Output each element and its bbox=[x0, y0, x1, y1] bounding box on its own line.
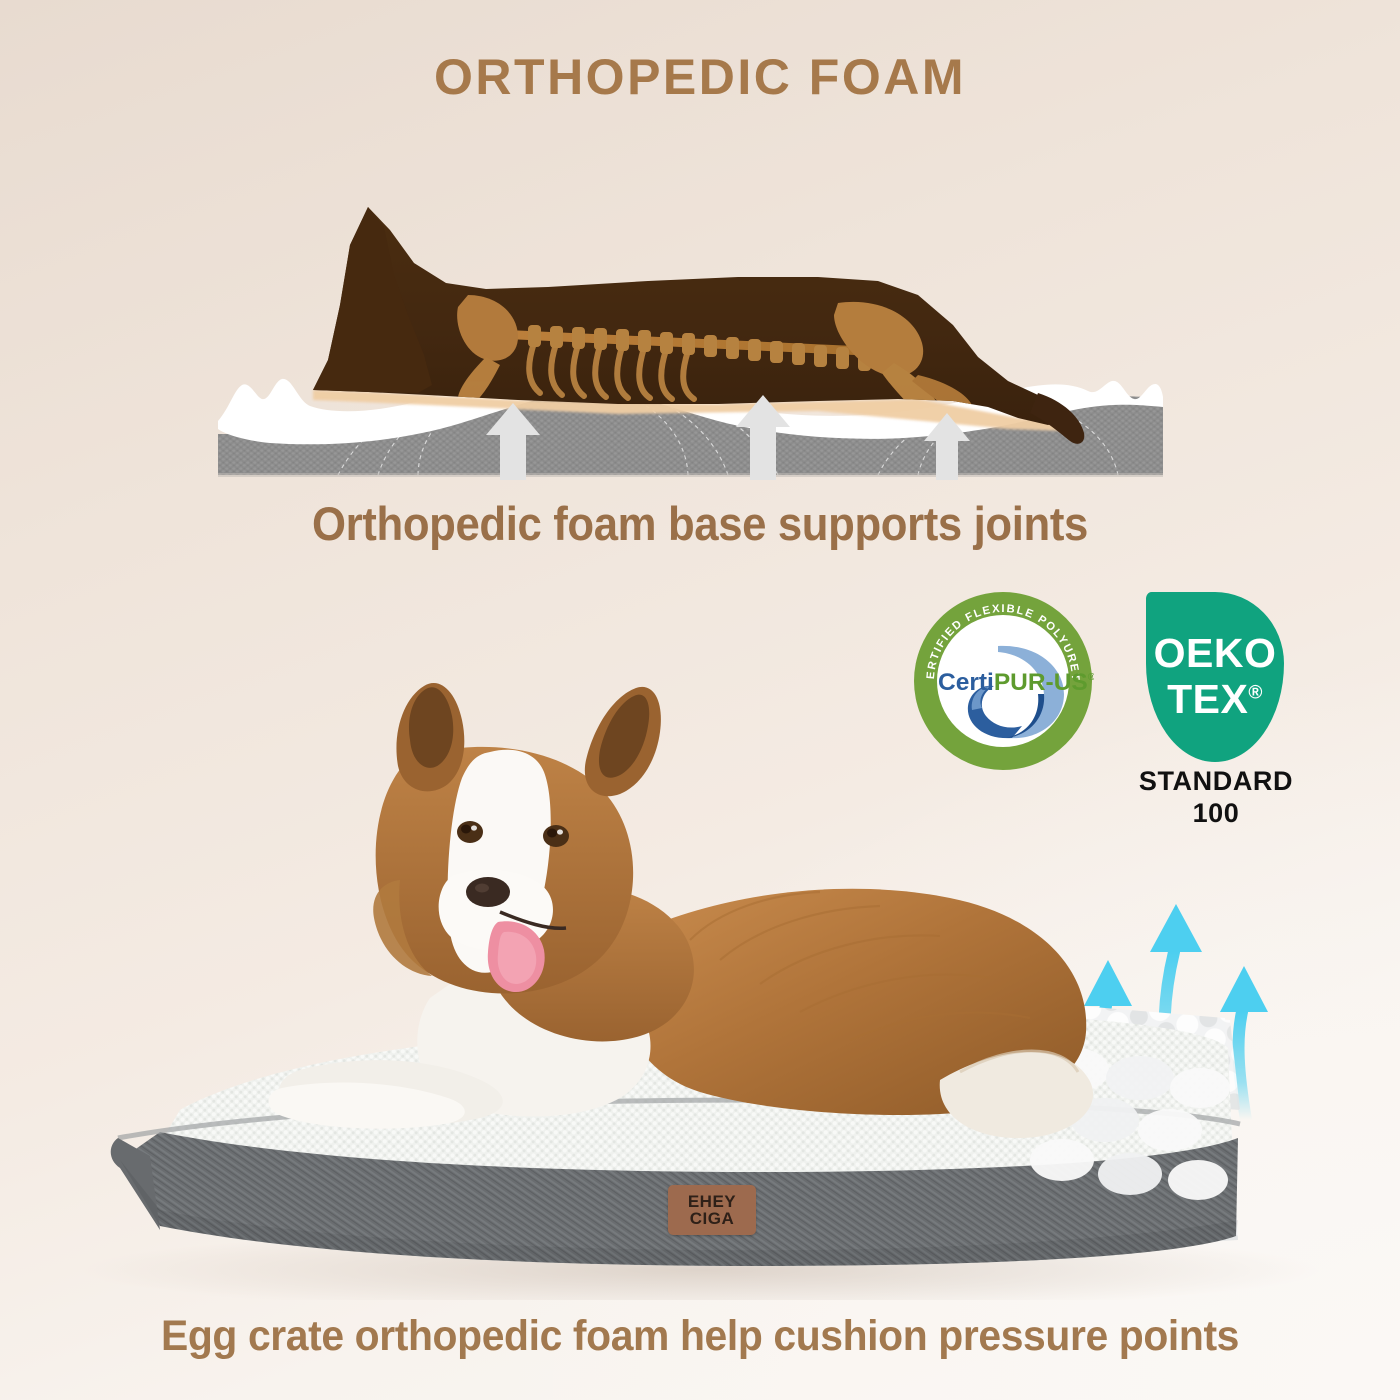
brand-logo-tag: EHEY CIGA bbox=[668, 1185, 756, 1235]
dog-nose bbox=[466, 877, 510, 907]
brand-line2: CIGA bbox=[690, 1210, 735, 1227]
brand-line1: EHEY bbox=[688, 1193, 736, 1210]
foam-cross-section-diagram bbox=[218, 185, 1163, 480]
dog-eye-right bbox=[543, 825, 569, 847]
dog-eye-left bbox=[457, 821, 483, 843]
dog-shetland-sheepdog bbox=[269, 683, 1094, 1138]
caption-orthopedic-support: Orthopedic foam base supports joints bbox=[49, 496, 1351, 551]
caption-egg-crate-foam: Egg crate orthopedic foam help cushion p… bbox=[35, 1312, 1365, 1361]
page-title: ORTHOPEDIC FOAM bbox=[0, 48, 1400, 106]
